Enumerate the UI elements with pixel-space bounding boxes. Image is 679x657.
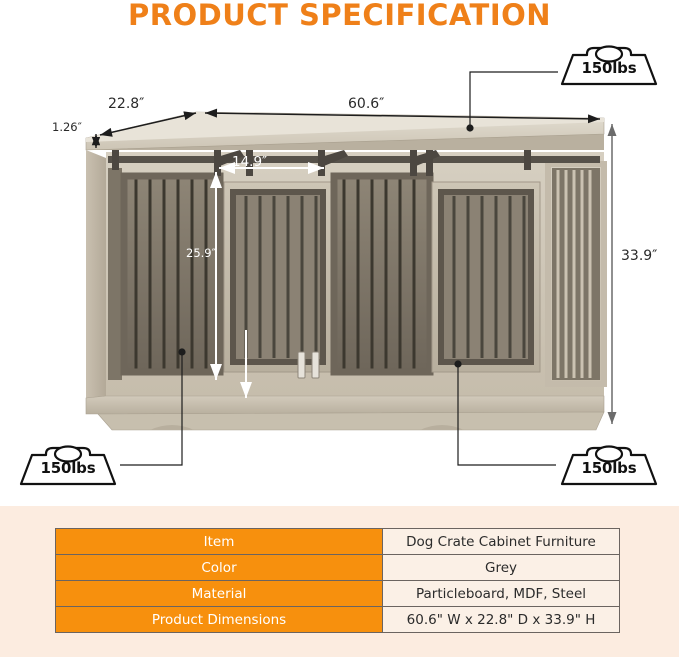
table-row: Color Grey (56, 555, 620, 581)
weight-badge-label: 150lbs (557, 459, 661, 477)
weight-badge-bottom-left: 150lbs (16, 442, 120, 488)
spec-key: Material (56, 581, 383, 607)
product-specification-page: PRODUCT SPECIFICATION (0, 0, 679, 657)
dimension-label-inner-width: 14.9″ (232, 154, 267, 170)
spec-value: Grey (383, 555, 620, 581)
dimension-label-inner-height: 25.9″ (186, 246, 216, 260)
product-illustration: 22.8″ 60.6″ 1.26″ 14.9″ 25.9″ 33.9″ 150l… (0, 0, 679, 506)
spec-key: Color (56, 555, 383, 581)
dimension-label-depth: 22.8″ (108, 96, 144, 112)
spec-value: Particleboard, MDF, Steel (383, 581, 620, 607)
spec-key: Item (56, 529, 383, 555)
dimension-label-width: 60.6″ (348, 96, 384, 112)
spec-value: Dog Crate Cabinet Furniture (383, 529, 620, 555)
specification-table-body: Item Dog Crate Cabinet Furniture Color G… (56, 529, 620, 633)
weight-badge-label: 150lbs (557, 59, 661, 77)
table-row: Product Dimensions 60.6" W x 22.8" D x 3… (56, 607, 620, 633)
weight-badge-bottom-right: 150lbs (557, 442, 661, 488)
dimension-label-thickness: 1.26″ (52, 120, 82, 134)
weight-badge-top-right: 150lbs (557, 42, 661, 88)
table-row: Material Particleboard, MDF, Steel (56, 581, 620, 607)
dimension-label-height: 33.9″ (621, 248, 657, 264)
spec-value: 60.6" W x 22.8" D x 33.9" H (383, 607, 620, 633)
table-row: Item Dog Crate Cabinet Furniture (56, 529, 620, 555)
weight-badge-label: 150lbs (16, 459, 120, 477)
spec-key: Product Dimensions (56, 607, 383, 633)
specification-table: Item Dog Crate Cabinet Furniture Color G… (55, 528, 620, 633)
